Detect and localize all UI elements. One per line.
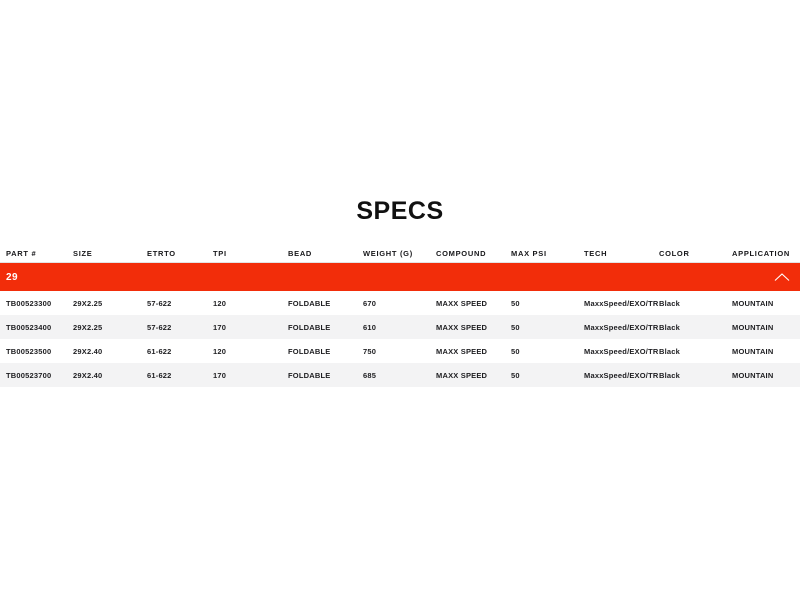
cell-tpi: 120 (213, 298, 288, 309)
column-header-tpi: TPI (213, 249, 288, 258)
cell-etrto: 57-622 (147, 298, 213, 309)
cell-compound: MAXX SPEED (436, 370, 511, 381)
page-title: SPECS (0, 196, 800, 226)
cell-weight: 670 (363, 298, 436, 309)
cell-tech: MaxxSpeed/EXO/TR (584, 346, 659, 357)
cell-compound: MAXX SPEED (436, 298, 511, 309)
table-row[interactable]: TB00523300 29X2.25 57-622 120 FOLDABLE 6… (0, 291, 800, 315)
cell-size: 29X2.40 (73, 346, 147, 357)
cell-application: MOUNTAIN (732, 370, 800, 381)
cell-etrto: 61-622 (147, 370, 213, 381)
cell-bead: FOLDABLE (288, 298, 363, 309)
cell-part: TB00523500 (0, 346, 73, 357)
cell-color: Black (659, 298, 732, 309)
specs-table: PART # SIZE ETRTO TPI BEAD WEIGHT (G) CO… (0, 245, 800, 387)
column-header-application: APPLICATION (732, 249, 800, 258)
cell-max-psi: 50 (511, 370, 584, 381)
cell-bead: FOLDABLE (288, 346, 363, 357)
cell-tpi: 120 (213, 346, 288, 357)
column-header-max-psi: MAX PSI (511, 249, 584, 258)
cell-tech: MaxxSpeed/EXO/TR (584, 298, 659, 309)
cell-weight: 610 (363, 322, 436, 333)
cell-tpi: 170 (213, 370, 288, 381)
cell-tech: MaxxSpeed/EXO/TR (584, 370, 659, 381)
column-header-bead: BEAD (288, 249, 363, 258)
column-header-etrto: ETRTO (147, 249, 213, 258)
cell-application: MOUNTAIN (732, 346, 800, 357)
cell-color: Black (659, 322, 732, 333)
cell-color: Black (659, 346, 732, 357)
cell-part: TB00523400 (0, 322, 73, 333)
cell-etrto: 61-622 (147, 346, 213, 357)
cell-max-psi: 50 (511, 346, 584, 357)
cell-compound: MAXX SPEED (436, 322, 511, 333)
group-row-29[interactable]: 29 (0, 263, 800, 291)
table-row[interactable]: TB00523400 29X2.25 57-622 170 FOLDABLE 6… (0, 315, 800, 339)
cell-etrto: 57-622 (147, 322, 213, 333)
cell-weight: 750 (363, 346, 436, 357)
column-header-size: SIZE (73, 249, 147, 258)
cell-weight: 685 (363, 370, 436, 381)
table-row[interactable]: TB00523700 29X2.40 61-622 170 FOLDABLE 6… (0, 363, 800, 387)
column-header-tech: TECH (584, 249, 659, 258)
table-header-row: PART # SIZE ETRTO TPI BEAD WEIGHT (G) CO… (0, 245, 800, 263)
cell-max-psi: 50 (511, 298, 584, 309)
column-header-weight: WEIGHT (G) (363, 249, 436, 258)
cell-application: MOUNTAIN (732, 322, 800, 333)
cell-part: TB00523700 (0, 370, 73, 381)
cell-part: TB00523300 (0, 298, 73, 309)
column-header-color: COLOR (659, 249, 732, 258)
cell-application: MOUNTAIN (732, 298, 800, 309)
cell-size: 29X2.25 (73, 322, 147, 333)
cell-bead: FOLDABLE (288, 370, 363, 381)
cell-bead: FOLDABLE (288, 322, 363, 333)
table-row[interactable]: TB00523500 29X2.40 61-622 120 FOLDABLE 7… (0, 339, 800, 363)
cell-color: Black (659, 370, 732, 381)
column-header-compound: COMPOUND (436, 249, 511, 258)
group-label: 29 (0, 272, 18, 283)
column-header-part: PART # (0, 249, 73, 258)
cell-size: 29X2.25 (73, 298, 147, 309)
chevron-up-icon[interactable] (774, 272, 790, 282)
cell-compound: MAXX SPEED (436, 346, 511, 357)
cell-tech: MaxxSpeed/EXO/TR (584, 322, 659, 333)
cell-max-psi: 50 (511, 322, 584, 333)
cell-size: 29X2.40 (73, 370, 147, 381)
specs-page: SPECS PART # SIZE ETRTO TPI BEAD WEIGHT … (0, 0, 800, 600)
cell-tpi: 170 (213, 322, 288, 333)
